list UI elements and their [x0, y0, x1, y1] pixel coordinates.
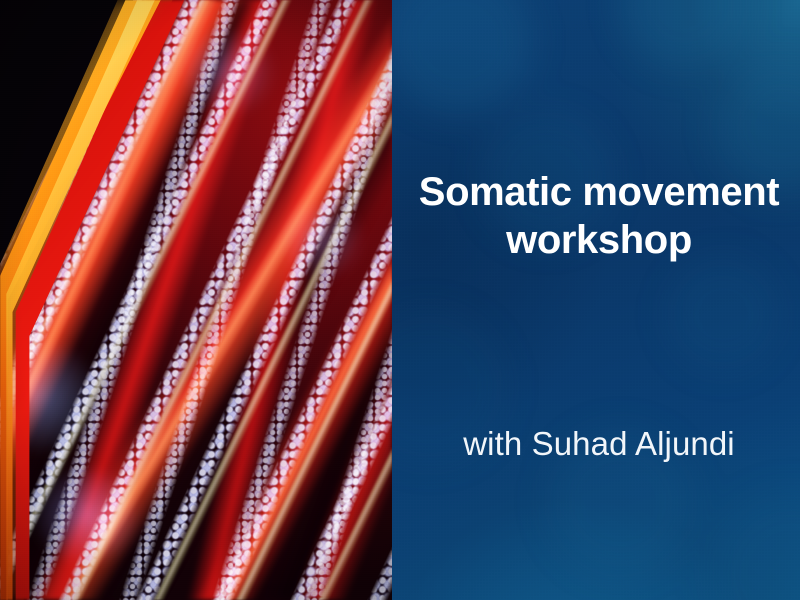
- promo-banner: Somatic movement workshop with Suhad Alj…: [0, 0, 800, 600]
- workshop-title: Somatic movement workshop: [406, 168, 792, 264]
- microscopy-image: [0, 0, 392, 600]
- panel-text-content: Somatic movement workshop with Suhad Alj…: [392, 0, 800, 600]
- photo-grain: [0, 0, 392, 600]
- workshop-presenter: with Suhad Aljundi: [406, 424, 792, 464]
- blue-text-panel: Somatic movement workshop with Suhad Alj…: [392, 0, 800, 600]
